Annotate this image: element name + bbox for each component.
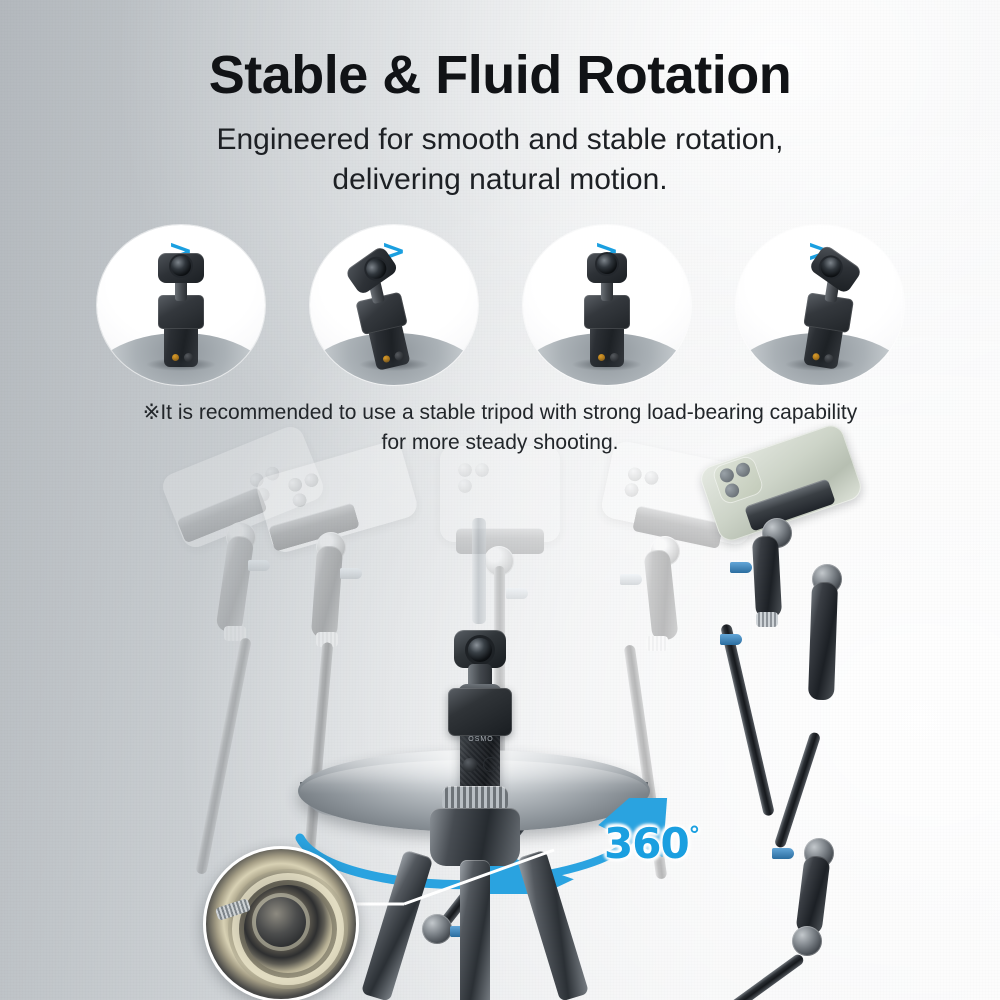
header-block: Stable & Fluid Rotation Engineered for s…	[0, 0, 1000, 200]
magnifier-leader-line	[330, 848, 560, 910]
knurled-collar-upper	[756, 612, 778, 627]
thumbnail-4-pocket-camera-tilted-right[interactable]: >	[736, 225, 904, 385]
disclaimer-note: ※It is recommended to use a stable tripo…	[0, 398, 1000, 458]
thumbnail-shadow	[359, 358, 429, 371]
thumbnail-shadow	[572, 358, 642, 371]
hero-camera-record-button	[484, 758, 497, 771]
page-subtitle: Engineered for smooth and stable rotatio…	[90, 120, 910, 200]
degree-symbol: °	[689, 823, 700, 849]
thumbnail-2-pocket-camera-tilted-left[interactable]: >	[310, 225, 478, 385]
hero-camera-display	[448, 688, 512, 736]
ghost-support-rod	[472, 518, 486, 624]
hero-camera-lens	[468, 638, 492, 662]
lower-joint-b	[792, 926, 822, 956]
disclaimer-line-1: ※It is recommended to use a stable tripo…	[0, 398, 1000, 428]
ghost-lock-lever	[620, 574, 642, 585]
hero-camera-joystick	[463, 758, 477, 772]
ghost-lock-lever	[340, 568, 362, 579]
leader-segment-diagonal	[404, 850, 554, 904]
page-title: Stable & Fluid Rotation	[0, 0, 1000, 104]
ghost-phone-camera-module	[452, 458, 496, 498]
thumbnail-shadow	[785, 358, 855, 371]
lower-lock-lever-a	[772, 848, 794, 859]
hero-camera-brand-label: OSMO	[466, 736, 496, 743]
camera-lens	[597, 254, 617, 274]
hero-pocket-camera: OSMO	[446, 618, 512, 798]
product-feature-page: Stable & Fluid Rotation Engineered for s…	[0, 0, 1000, 1000]
camera-lens	[171, 256, 191, 276]
lock-lever-mid	[720, 634, 742, 645]
disclaimer-line-2: for more steady shooting.	[0, 428, 1000, 458]
arm-segment-mid	[808, 582, 838, 701]
bearing-inner-hub	[252, 893, 310, 951]
subtitle-line-1: Engineered for smooth and stable rotatio…	[216, 123, 783, 156]
ghost-pole	[195, 637, 252, 875]
ghost-knurled-collar	[646, 636, 668, 651]
lock-lever-upper	[730, 562, 752, 573]
rotation-badge-360: 360°	[604, 823, 699, 865]
hero-product-scene: OSMO	[0, 430, 1000, 1000]
rotation-badge-value: 360	[604, 819, 689, 868]
lower-arm-pole-b	[678, 952, 806, 1000]
lower-arm-pole-a	[774, 731, 822, 849]
thumbnail-1-pocket-camera-front[interactable]: >	[97, 225, 265, 385]
ghost-lock-lever	[506, 588, 528, 599]
thumbnail-shadow	[146, 358, 216, 371]
ghost-arm-segment	[311, 545, 343, 639]
bearing-closeup-inset	[203, 846, 359, 1000]
arm-segment-upper	[752, 535, 782, 618]
thumbnail-3-pocket-camera-rear[interactable]: >	[523, 225, 691, 385]
rotation-thumbnail-row: > >	[0, 225, 1000, 387]
lower-arm-segment-a	[795, 855, 830, 936]
subtitle-line-2: delivering natural motion.	[332, 163, 667, 196]
lower-left-joint-mid	[422, 914, 452, 944]
